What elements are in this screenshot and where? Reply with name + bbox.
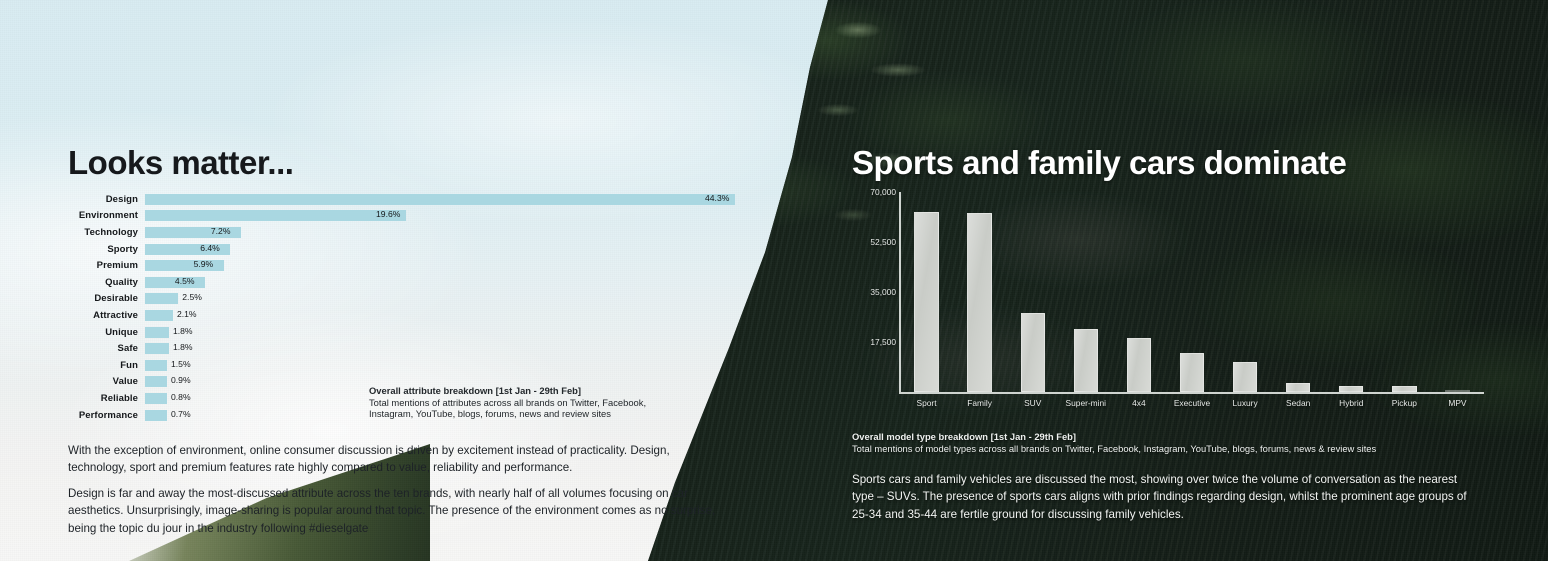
left-paragraph-2: Design is far and away the most-discusse…	[68, 485, 728, 537]
y-axis-tick-label: 70,000	[870, 187, 896, 197]
model-type-column	[1021, 192, 1045, 392]
attribute-value-label: 7.2%	[211, 226, 231, 236]
attribute-label: Safe	[68, 343, 145, 354]
attribute-bar	[145, 194, 735, 205]
attribute-bar	[145, 393, 167, 404]
attribute-label: Value	[68, 376, 145, 387]
left-panel-title: Looks matter...	[68, 144, 293, 182]
model-type-bar	[1074, 329, 1098, 392]
attribute-row: Environment19.6%	[68, 208, 728, 225]
left-chart-caption: Overall attribute breakdown [1st Jan - 2…	[369, 385, 699, 420]
attribute-label: Design	[68, 194, 145, 205]
x-axis-line	[899, 392, 1484, 394]
y-axis-tick-label: 17,500	[870, 337, 896, 347]
y-axis-tick-labels: 17,50035,00052,50070,000	[852, 192, 896, 392]
attribute-row: Design44.3%	[68, 191, 728, 208]
model-type-column	[1233, 192, 1257, 392]
attribute-bar	[145, 410, 167, 421]
attribute-label: Reliable	[68, 393, 145, 404]
x-axis-tick-label: Executive	[1165, 398, 1218, 408]
attribute-value-label: 1.5%	[171, 359, 191, 369]
model-type-bar	[1180, 353, 1204, 392]
infographic-canvas: Looks matter... Design44.3%Environment19…	[0, 0, 1548, 561]
attribute-row: Sporty6.4%	[68, 241, 728, 258]
attribute-label: Attractive	[68, 310, 145, 321]
model-type-bar	[1021, 313, 1045, 392]
left-panel: Looks matter... Design44.3%Environment19…	[0, 0, 760, 561]
attribute-value-label: 1.8%	[173, 342, 193, 352]
attribute-bar-track: 19.6%	[145, 210, 728, 221]
left-caption-line-2: Total mentions of attributes across all …	[369, 397, 699, 409]
attribute-label: Fun	[68, 360, 145, 371]
right-caption-line-2: Total mentions of model types across all…	[852, 443, 1492, 455]
y-axis-tick-label: 52,500	[870, 237, 896, 247]
right-caption-line-1: Overall model type breakdown [1st Jan - …	[852, 431, 1492, 443]
attribute-bar-track: 6.4%	[145, 244, 728, 255]
right-panel-title: Sports and family cars dominate	[852, 144, 1346, 182]
model-type-column	[1180, 192, 1204, 392]
attribute-row: Attractive2.1%	[68, 307, 728, 324]
attribute-bar-track: 2.1%	[145, 310, 728, 321]
model-type-bar	[1233, 362, 1257, 392]
model-type-bar	[1392, 386, 1416, 392]
attribute-bar-track: 1.8%	[145, 327, 728, 338]
model-type-bar-chart: 17,50035,00052,50070,000 SportFamilySUVS…	[852, 192, 1484, 407]
attribute-row: Desirable2.5%	[68, 291, 728, 308]
x-axis-tick-label: Pickup	[1378, 398, 1431, 408]
left-caption-line-3: Instagram, YouTube, blogs, forums, news …	[369, 408, 699, 420]
x-axis-tick-labels: SportFamilySUVSuper-mini4x4ExecutiveLuxu…	[900, 398, 1484, 416]
model-type-column	[1286, 192, 1310, 392]
model-type-column	[914, 192, 938, 392]
x-axis-tick-label: SUV	[1006, 398, 1059, 408]
attribute-label: Quality	[68, 277, 145, 288]
attribute-bar	[145, 376, 167, 387]
attribute-value-label: 0.7%	[171, 409, 191, 419]
model-type-bar	[1339, 386, 1363, 392]
attribute-value-label: 44.3%	[705, 193, 729, 203]
attribute-bar	[145, 327, 169, 338]
attribute-row: Safe1.8%	[68, 340, 728, 357]
attribute-label: Desirable	[68, 293, 145, 304]
attribute-bar-track: 1.8%	[145, 343, 728, 354]
right-panel: Sports and family cars dominate 17,50035…	[848, 0, 1548, 561]
attribute-value-label: 0.9%	[171, 375, 191, 385]
attribute-bar	[145, 210, 406, 221]
attribute-bar-track: 44.3%	[145, 194, 728, 205]
model-type-bar	[914, 212, 938, 392]
model-type-column	[1074, 192, 1098, 392]
model-type-column	[1445, 192, 1469, 392]
right-paragraph-1: Sports cars and family vehicles are disc…	[852, 471, 1480, 523]
attribute-bar-track: 4.5%	[145, 277, 728, 288]
attribute-value-label: 2.1%	[177, 309, 197, 319]
attribute-bar-track: 1.5%	[145, 360, 728, 371]
attribute-row: Fun1.5%	[68, 357, 728, 374]
attribute-bar-track: 7.2%	[145, 227, 728, 238]
attribute-bar-track: 2.5%	[145, 293, 728, 304]
attribute-bar	[145, 360, 167, 371]
left-paragraph-1: With the exception of environment, onlin…	[68, 442, 728, 477]
attribute-label: Performance	[68, 410, 145, 421]
model-type-bar	[1445, 390, 1469, 392]
attribute-label: Technology	[68, 227, 145, 238]
attribute-label: Sporty	[68, 244, 145, 255]
attribute-value-label: 2.5%	[182, 292, 202, 302]
y-axis-tick-label: 35,000	[870, 287, 896, 297]
model-type-bar	[1286, 383, 1310, 392]
attribute-label: Premium	[68, 260, 145, 271]
model-type-bar	[1127, 338, 1151, 392]
attribute-bar	[145, 343, 169, 354]
x-axis-tick-label: Sedan	[1272, 398, 1325, 408]
model-type-column	[967, 192, 991, 392]
model-type-bar	[967, 213, 991, 392]
attribute-label: Unique	[68, 327, 145, 338]
attribute-value-label: 0.8%	[171, 392, 191, 402]
attribute-row: Premium5.9%	[68, 257, 728, 274]
attribute-bar	[145, 293, 178, 304]
x-axis-tick-label: 4x4	[1112, 398, 1165, 408]
x-axis-tick-label: MPV	[1431, 398, 1484, 408]
x-axis-tick-label: Family	[953, 398, 1006, 408]
left-caption-line-1: Overall attribute breakdown [1st Jan - 2…	[369, 385, 699, 397]
attribute-value-label: 1.8%	[173, 326, 193, 336]
x-axis-tick-label: Sport	[900, 398, 953, 408]
attribute-row: Quality4.5%	[68, 274, 728, 291]
model-type-column	[1127, 192, 1151, 392]
attribute-value-label: 4.5%	[175, 276, 195, 286]
attribute-row: Unique1.8%	[68, 324, 728, 341]
model-type-column	[1339, 192, 1363, 392]
bars-plot-area	[900, 192, 1484, 392]
attribute-value-label: 5.9%	[194, 259, 214, 269]
attribute-bar	[145, 310, 173, 321]
attribute-value-label: 6.4%	[200, 243, 220, 253]
attribute-row: Technology7.2%	[68, 224, 728, 241]
x-axis-tick-label: Luxury	[1219, 398, 1272, 408]
attribute-bar-track: 5.9%	[145, 260, 728, 271]
attribute-label: Environment	[68, 210, 145, 221]
right-chart-caption: Overall model type breakdown [1st Jan - …	[852, 431, 1492, 455]
x-axis-tick-label: Hybrid	[1325, 398, 1378, 408]
attribute-value-label: 19.6%	[376, 209, 400, 219]
x-axis-tick-label: Super-mini	[1059, 398, 1112, 408]
model-type-column	[1392, 192, 1416, 392]
